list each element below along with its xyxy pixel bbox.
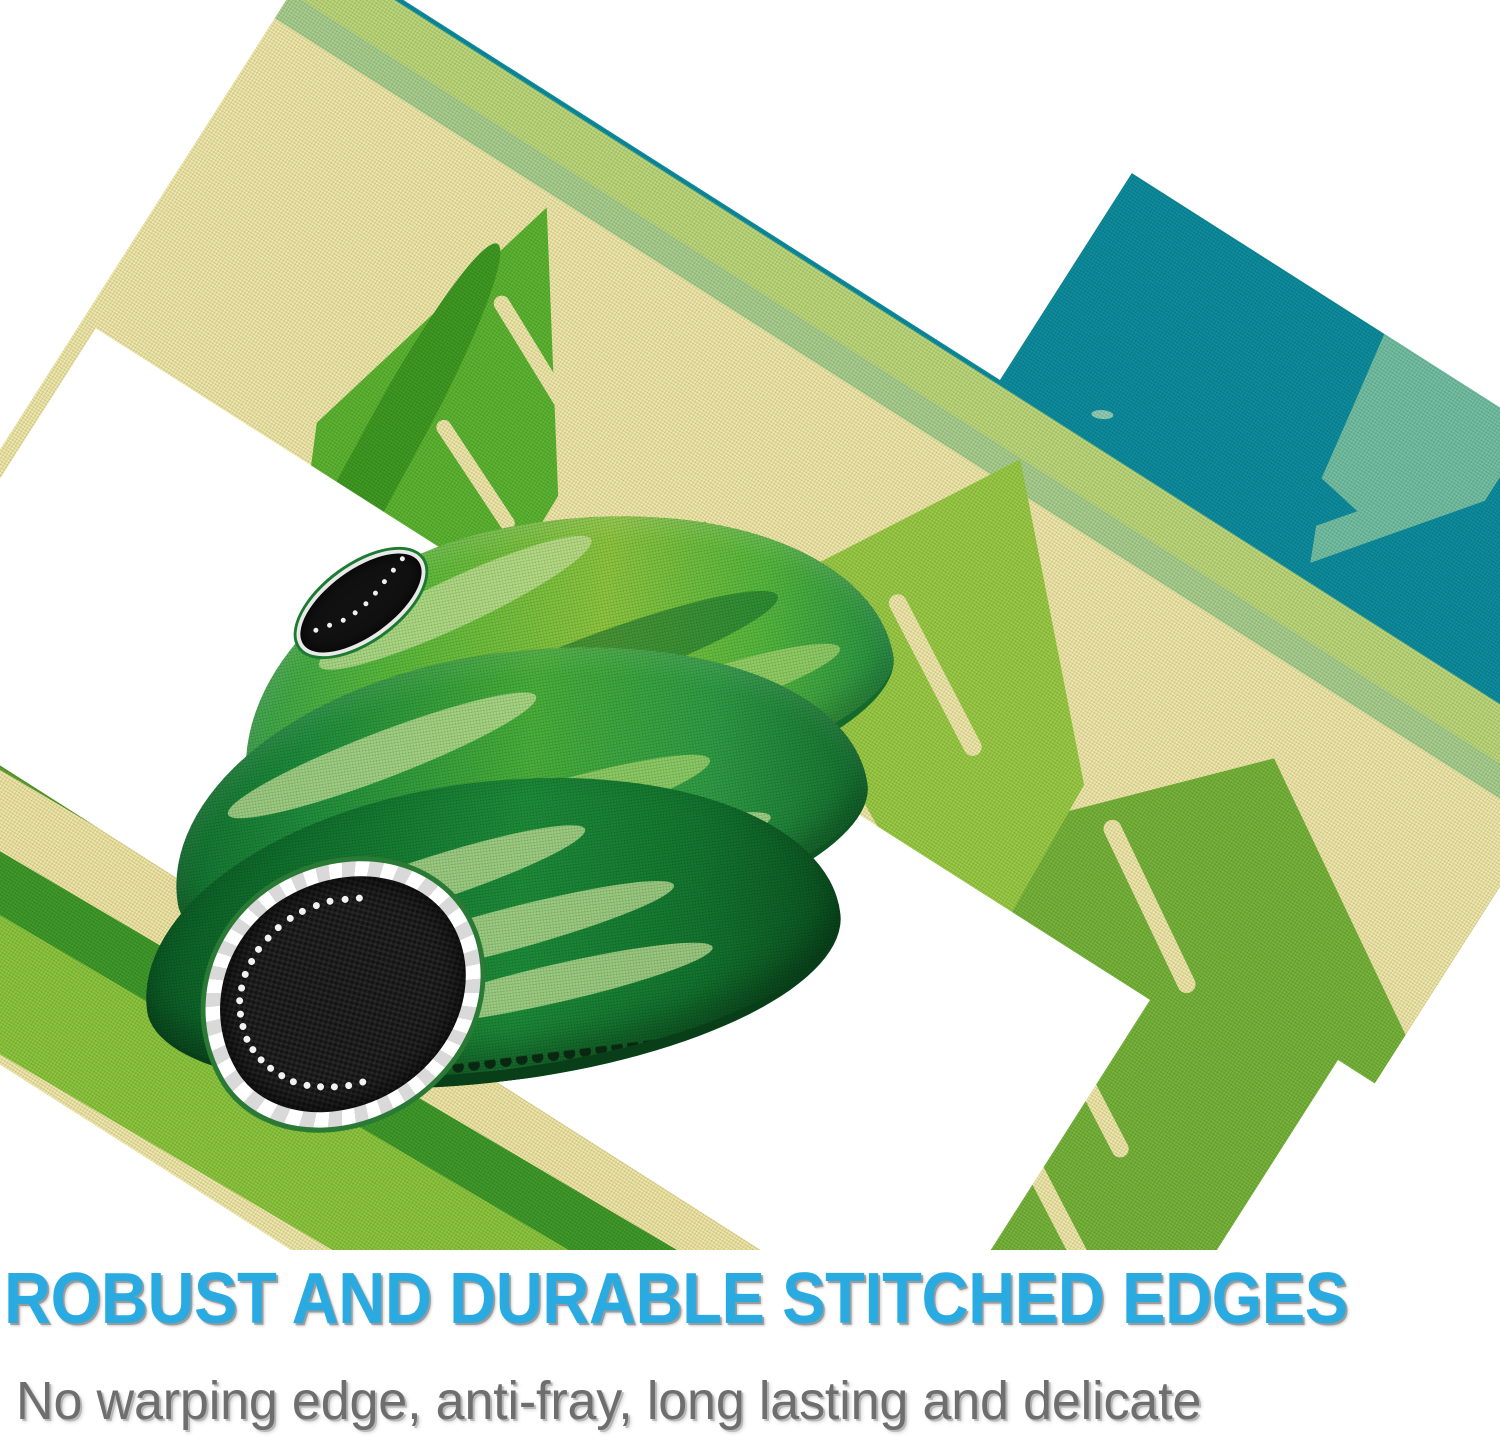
rubber-base-dot bbox=[362, 600, 369, 607]
feature-subtitle: No warping edge, anti-fray, long lasting… bbox=[16, 1372, 1448, 1430]
rolled-mouse-pad-end bbox=[120, 520, 900, 1220]
marketing-text-block: ROBUST AND DURABLE STITCHED EDGES No war… bbox=[0, 1250, 1500, 1446]
product-feature-image: ROBUST AND DURABLE STITCHED EDGES No war… bbox=[0, 0, 1500, 1446]
rubber-base-dot bbox=[381, 578, 388, 585]
rubber-base-dot bbox=[312, 627, 319, 634]
rubber-base-dot bbox=[390, 567, 397, 574]
feature-headline: ROBUST AND DURABLE STITCHED EDGES bbox=[4, 1262, 1354, 1336]
rubber-base-dot bbox=[339, 616, 346, 623]
rubber-base-dot bbox=[352, 609, 359, 616]
rubber-base-dot bbox=[372, 590, 379, 597]
rubber-base-dot bbox=[399, 555, 406, 562]
product-photo bbox=[0, 0, 1500, 1250]
rubber-base-dot bbox=[326, 622, 333, 629]
